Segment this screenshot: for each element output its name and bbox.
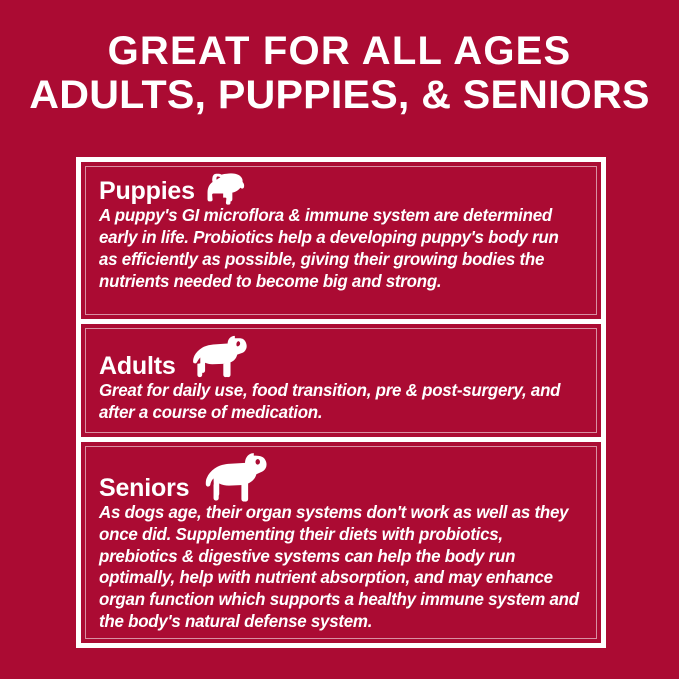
section-heading-row-puppies: Puppies	[99, 171, 587, 204]
section-heading-puppies: Puppies	[99, 179, 195, 204]
age-groups-panel: Puppies A puppy's GI microflora & immune…	[76, 157, 606, 648]
section-heading-row-adults: Adults	[99, 333, 587, 379]
page-title-line-1: GREAT FOR ALL AGES	[0, 31, 679, 71]
section-heading-seniors: Seniors	[99, 476, 189, 501]
page-title-line-2: ADULTS, PUPPIES, & SENIORS	[0, 75, 679, 115]
section-body-puppies: A puppy's GI microflora & immune system …	[99, 205, 580, 292]
section-heading-adults: Adults	[99, 354, 176, 379]
section-adults: Adults Great for daily use, food transit…	[81, 319, 601, 437]
header: GREAT FOR ALL AGES ADULTS, PUPPIES, & SE…	[0, 0, 679, 115]
section-body-adults: Great for daily use, food transition, pr…	[99, 380, 580, 424]
age-groups-list: Puppies A puppy's GI microflora & immune…	[81, 162, 601, 643]
puppy-dog-icon	[202, 171, 248, 205]
section-puppies: Puppies A puppy's GI microflora & immune…	[81, 162, 601, 319]
adult-dog-icon	[183, 333, 255, 381]
section-heading-row-seniors: Seniors	[99, 451, 587, 501]
senior-dog-icon	[196, 451, 276, 503]
section-seniors: Seniors As dogs age, their organ systems…	[81, 437, 601, 643]
section-body-seniors: As dogs age, their organ systems don't w…	[99, 502, 580, 633]
